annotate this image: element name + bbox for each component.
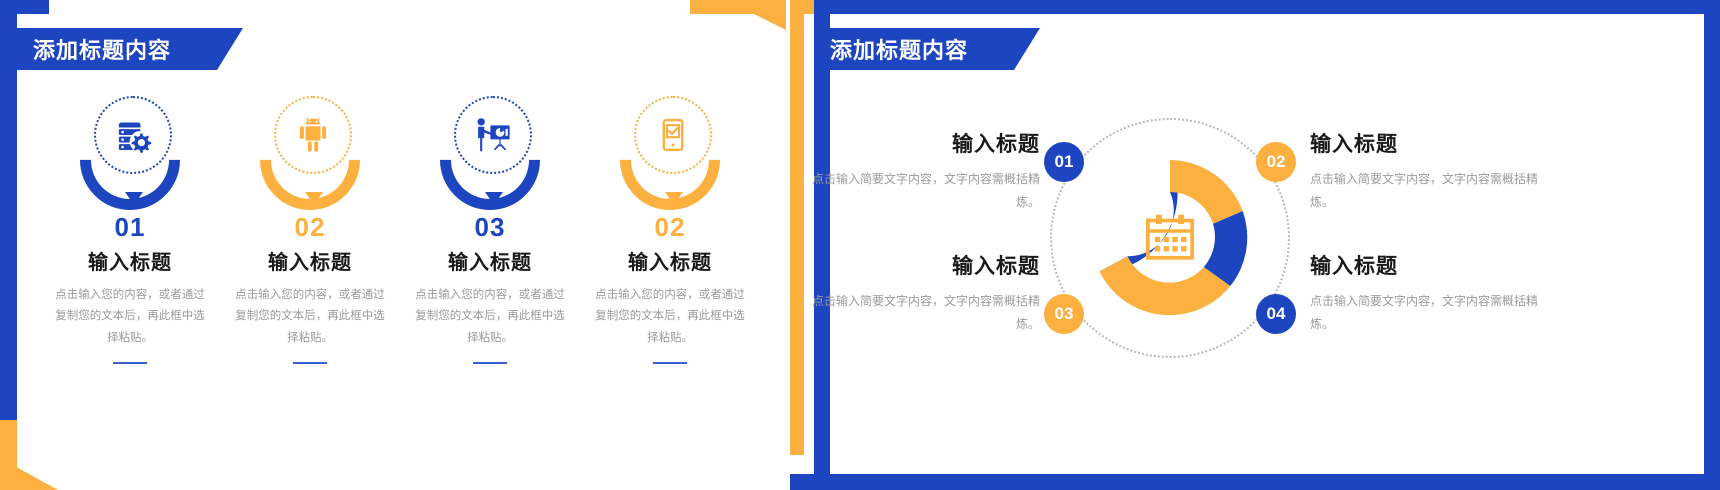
donut-pin-01[interactable]: 01 xyxy=(1044,142,1084,182)
right-block-top-left-title: 输入标题 xyxy=(810,128,1040,158)
card-02-underline-decoration xyxy=(293,362,327,364)
card-01-underline-decoration xyxy=(113,362,147,364)
donut-pin-03[interactable]: 03 xyxy=(1044,294,1084,334)
card-02-pointer-decoration xyxy=(305,192,323,205)
presenter-board-icon xyxy=(454,96,532,174)
left-title-banner: 添加标题内容 xyxy=(17,28,217,70)
card-03-underline-decoration xyxy=(473,362,507,364)
card-04-description: 点击输入您的内容，或者通过复制您的文本后，再此框中选择粘贴。 xyxy=(595,285,745,349)
card-01-badge xyxy=(75,88,185,206)
right-block-bottom-right-title: 输入标题 xyxy=(1310,250,1540,280)
card-01-number: 01 xyxy=(115,212,146,243)
card-02[interactable]: 02 输入标题 点击输入您的内容，或者通过复制您的文本后，再此框中选择粘贴。 xyxy=(220,88,400,364)
right-block-top-right-description: 点击输入简要文字内容，文字内容需概括精炼。 xyxy=(1310,168,1540,214)
right-block-top-left[interactable]: 输入标题 点击输入简要文字内容，文字内容需概括精炼。 xyxy=(810,128,1040,214)
right-blue-top-edge-decoration xyxy=(814,0,1720,14)
card-02-description: 点击输入您的内容，或者通过复制您的文本后，再此框中选择粘贴。 xyxy=(235,285,385,349)
slide-pair-canvas: 添加标题内容 xyxy=(0,0,1720,490)
right-blue-right-edge-decoration xyxy=(1704,0,1720,490)
card-04-title: 输入标题 xyxy=(628,246,712,275)
right-blue-left-edge-decoration xyxy=(814,0,830,490)
card-02-title: 输入标题 xyxy=(268,246,352,275)
left-title-banner-tail-decoration xyxy=(217,28,243,70)
donut-pin-02[interactable]: 02 xyxy=(1256,142,1296,182)
right-orange-edge-decoration xyxy=(790,0,804,455)
card-03-pointer-decoration xyxy=(485,192,503,205)
right-block-top-right-title: 输入标题 xyxy=(1310,128,1540,158)
right-block-bottom-right[interactable]: 输入标题 点击输入简要文字内容，文字内容需概括精炼。 xyxy=(1310,250,1540,336)
right-block-top-right[interactable]: 输入标题 点击输入简要文字内容，文字内容需概括精炼。 xyxy=(1310,128,1540,214)
left-top-right-orange-triangle-decoration xyxy=(726,0,786,30)
left-card-row: 01 输入标题 点击输入您的内容，或者通过复制您的文本后，再此框中选择粘贴。 xyxy=(40,88,760,364)
donut-pin-03-label: 03 xyxy=(1055,304,1074,324)
right-block-bottom-right-description: 点击输入简要文字内容，文字内容需概括精炼。 xyxy=(1310,290,1540,336)
card-04-number: 02 xyxy=(655,212,686,243)
card-04-pointer-decoration xyxy=(665,192,683,205)
right-block-bottom-left-title: 输入标题 xyxy=(810,250,1040,280)
right-title-banner: 添加标题内容 xyxy=(814,28,1014,70)
left-title-text: 添加标题内容 xyxy=(17,33,171,65)
donut-pin-01-label: 01 xyxy=(1055,152,1074,172)
server-gear-icon xyxy=(94,96,172,174)
card-01-title: 输入标题 xyxy=(88,246,172,275)
right-block-top-left-description: 点击输入简要文字内容，文字内容需概括精炼。 xyxy=(810,168,1040,214)
right-blue-bottom-edge-decoration xyxy=(790,474,1720,490)
right-title-banner-tail-decoration xyxy=(1014,28,1040,70)
card-04[interactable]: 02 输入标题 点击输入您的内容，或者通过复制您的文本后，再此框中选择粘贴。 xyxy=(580,88,760,364)
right-title-text: 添加标题内容 xyxy=(814,33,968,65)
calendar-icon xyxy=(1085,153,1255,323)
right-block-bottom-left-description: 点击输入简要文字内容，文字内容需概括精炼。 xyxy=(810,290,1040,336)
android-robot-icon xyxy=(274,96,352,174)
donut-pin-04[interactable]: 04 xyxy=(1256,294,1296,334)
left-blue-edge-decoration xyxy=(0,0,17,490)
right-block-bottom-left[interactable]: 输入标题 点击输入简要文字内容，文字内容需概括精炼。 xyxy=(810,250,1040,336)
card-01-description: 点击输入您的内容，或者通过复制您的文本后，再此框中选择粘贴。 xyxy=(55,285,205,349)
donut-pin-02-label: 02 xyxy=(1267,152,1286,172)
mobile-check-icon xyxy=(634,96,712,174)
left-bottom-left-orange-triangle-decoration xyxy=(0,458,58,490)
card-03-badge xyxy=(435,88,545,206)
left-blue-top-stub-decoration xyxy=(17,0,49,14)
donut-pin-04-label: 04 xyxy=(1267,304,1286,324)
slide-left: 添加标题内容 xyxy=(0,0,786,490)
card-02-badge xyxy=(255,88,365,206)
card-01[interactable]: 01 输入标题 点击输入您的内容，或者通过复制您的文本后，再此框中选择粘贴。 xyxy=(40,88,220,364)
card-03-number: 03 xyxy=(475,212,506,243)
card-03-description: 点击输入您的内容，或者通过复制您的文本后，再此框中选择粘贴。 xyxy=(415,285,565,349)
card-01-pointer-decoration xyxy=(125,192,143,205)
card-03-title: 输入标题 xyxy=(448,246,532,275)
card-04-underline-decoration xyxy=(653,362,687,364)
donut-infographic: 01 02 03 04 xyxy=(1050,118,1290,358)
card-04-badge xyxy=(615,88,725,206)
slide-right: 添加标题内容 xyxy=(790,0,1720,490)
card-02-number: 02 xyxy=(295,212,326,243)
card-03[interactable]: 03 输入标题 点击输入您的内容，或者通过复制您的文本后，再此框中选择粘贴。 xyxy=(400,88,580,364)
